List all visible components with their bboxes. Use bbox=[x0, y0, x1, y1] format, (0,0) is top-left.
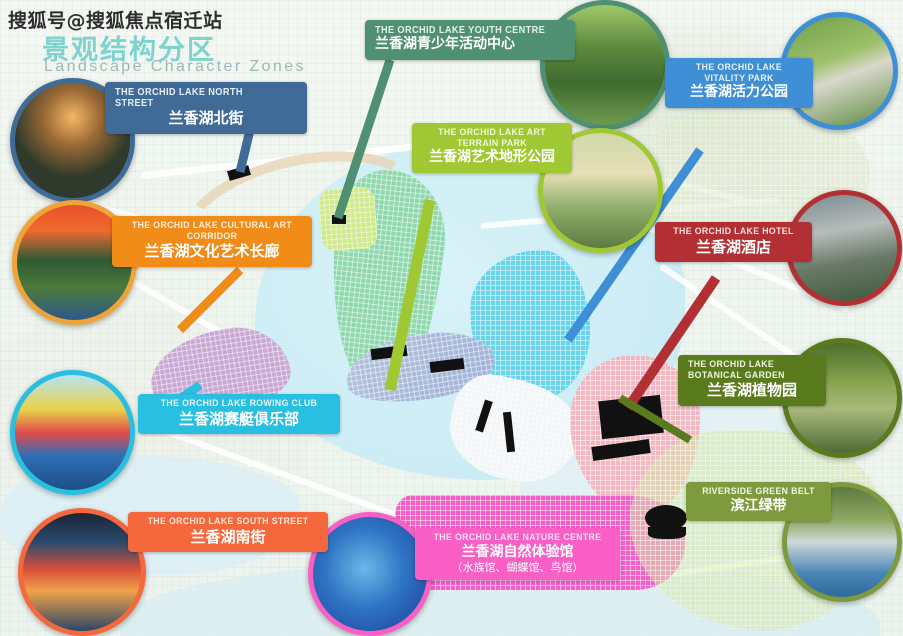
label-riverside-green-belt-cn: 滨江绿带 bbox=[696, 498, 821, 516]
label-nature-centre[interactable]: THE ORCHID LAKE NATURE CENTRE 兰香湖自然体验馆 （… bbox=[415, 528, 620, 580]
label-youth-centre-cn: 兰香湖青少年活动中心 bbox=[375, 36, 565, 54]
building-block bbox=[332, 215, 346, 224]
label-north-street-en: THE ORCHID LAKE NORTH STREET bbox=[115, 87, 282, 109]
label-south-street-en: THE ORCHID LAKE SOUTH STREET bbox=[145, 517, 311, 528]
label-north-street[interactable]: THE ORCHID LAKE NORTH STREET 兰香湖北街 bbox=[105, 82, 307, 134]
label-hotel-en: THE ORCHID LAKE HOTEL bbox=[670, 227, 796, 238]
label-vitality-park[interactable]: THE ORCHID LAKE VITALITY PARK 兰香湖活力公园 bbox=[665, 58, 813, 108]
label-vitality-park-cn: 兰香湖活力公园 bbox=[675, 84, 803, 102]
label-rowing-club-cn: 兰香湖赛艇俱乐部 bbox=[148, 410, 330, 429]
label-art-terrain-park[interactable]: THE ORCHID LAKE ART TERRAIN PARK 兰香湖艺术地形… bbox=[412, 123, 572, 173]
label-youth-centre[interactable]: THE ORCHID LAKE YOUTH CENTRE 兰香湖青少年活动中心 bbox=[365, 20, 575, 60]
label-riverside-green-belt[interactable]: RIVERSIDE GREEN BELT 滨江绿带 bbox=[686, 482, 831, 521]
label-cultural-art-corridor-cn: 兰香湖文化艺术长廊 bbox=[122, 242, 302, 261]
label-cultural-art-corridor-en-line2: CORRIDOR bbox=[129, 232, 295, 243]
label-south-street[interactable]: THE ORCHID LAKE SOUTH STREET 兰香湖南街 bbox=[128, 512, 328, 552]
label-nature-centre-cn: 兰香湖自然体验馆 bbox=[425, 544, 610, 562]
landscape-zone-map: 搜狐号@搜狐焦点宿迁站 景观结构分区 Landscape Character Z… bbox=[0, 0, 903, 636]
label-art-terrain-park-en-line2: TERRAIN PARK bbox=[428, 139, 557, 150]
label-botanical-garden-en-line2: BOTANICAL GARDEN bbox=[688, 371, 806, 382]
label-art-terrain-park-cn: 兰香湖艺术地形公园 bbox=[422, 149, 562, 167]
label-nature-centre-en: THE ORCHID LAKE NATURE CENTRE bbox=[432, 533, 602, 544]
label-south-street-cn: 兰香湖南街 bbox=[138, 528, 318, 547]
photo-south-street[interactable] bbox=[18, 508, 146, 636]
label-rowing-club-en: THE ORCHID LAKE ROWING CLUB bbox=[155, 399, 322, 410]
label-hotel[interactable]: THE ORCHID LAKE HOTEL 兰香湖酒店 bbox=[655, 222, 812, 262]
label-riverside-green-belt-en: RIVERSIDE GREEN BELT bbox=[701, 487, 816, 498]
zone-shape-lightgreen bbox=[318, 186, 378, 252]
label-vitality-park-en-line2: VITALITY PARK bbox=[680, 74, 798, 85]
label-hotel-cn: 兰香湖酒店 bbox=[665, 238, 802, 257]
photo-rowing-club[interactable] bbox=[10, 370, 135, 495]
building-block bbox=[598, 395, 664, 439]
label-botanical-garden[interactable]: THE ORCHID LAKE BOTANICAL GARDEN 兰香湖植物园 bbox=[678, 355, 826, 406]
label-botanical-garden-cn: 兰香湖植物园 bbox=[688, 381, 816, 400]
building-block bbox=[648, 527, 686, 539]
label-youth-centre-en: THE ORCHID LAKE YOUTH CENTRE bbox=[375, 25, 550, 36]
label-nature-centre-sub: （水族馆、蝴蝶馆、鸟馆） bbox=[425, 561, 610, 574]
label-north-street-cn: 兰香湖北街 bbox=[115, 109, 297, 128]
label-cultural-art-corridor[interactable]: THE ORCHID LAKE CULTURAL ART CORRIDOR 兰香… bbox=[112, 216, 312, 267]
page-title-en: Landscape Character Zones bbox=[44, 58, 306, 76]
label-rowing-club[interactable]: THE ORCHID LAKE ROWING CLUB 兰香湖赛艇俱乐部 bbox=[138, 394, 340, 434]
